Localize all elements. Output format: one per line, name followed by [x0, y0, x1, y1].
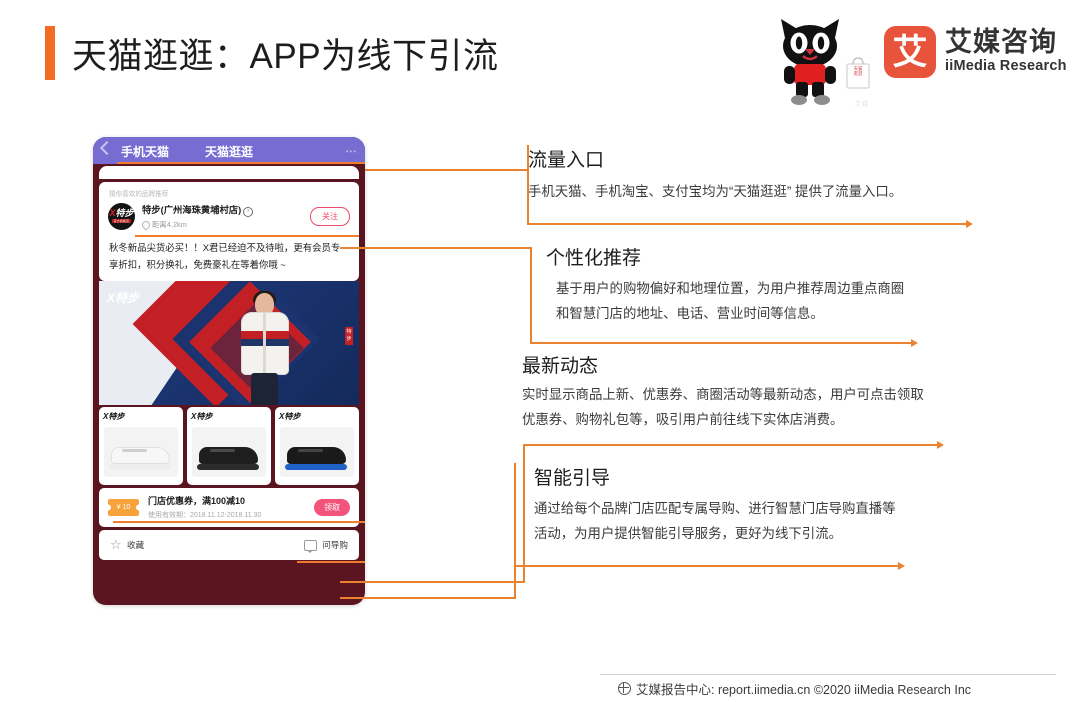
connector-arrow-1 — [966, 220, 973, 228]
annotation-3-heading: 最新动态 — [522, 351, 1022, 378]
brand-banner-image[interactable]: X特步 特步 — [99, 281, 359, 405]
store-card: 猜你喜欢的品牌推荐 X特步 官方旗舰店 特步(广州海珠黄埔村店)› 距离4.2k… — [99, 182, 359, 281]
nav-tab-tmall[interactable]: 手机天猫 — [121, 143, 169, 160]
connector-line-3-top — [340, 581, 524, 583]
iimedia-logo-name-en: iiMedia Research — [945, 57, 1067, 76]
footer-text: 艾媒报告中心: report.iimedia.cn ©2020 iiMedia … — [636, 679, 971, 698]
back-chevron-icon[interactable] — [100, 141, 114, 155]
product-image-black-sneaker — [192, 427, 266, 477]
store-underline-connector — [135, 235, 359, 237]
product-brand: X特步 — [103, 411, 179, 422]
page-title: 天猫逛逛：APP为线下引流 — [72, 28, 499, 79]
bottom-underline-connector — [297, 561, 365, 563]
favorite-label: 收藏 — [127, 539, 144, 551]
annotation-2-heading: 个性化推荐 — [546, 243, 1016, 270]
connector-arrow-4 — [898, 562, 905, 570]
coupon-amount-tag: ¥ 10 — [108, 499, 139, 516]
annotation-1-heading: 流量入口 — [528, 145, 998, 172]
watermark: 艾媒 — [855, 99, 869, 108]
banner-side-label: 特步 — [345, 327, 353, 345]
coupon-underline-connector — [113, 521, 365, 523]
nav-underline-connector — [117, 162, 365, 165]
connector-line-4-top — [340, 597, 515, 599]
banner-brand-logo: X特步 — [107, 289, 139, 306]
store-row[interactable]: X特步 官方旗舰店 特步(广州海珠黄埔村店)› 距离4.2km 关注 — [99, 202, 359, 235]
footer: 艾媒报告中心: report.iimedia.cn ©2020 iiMedia … — [618, 679, 971, 698]
store-promo-text: 秋冬新品尖货必买！！X君已经迫不及待啦，更有会员专享折扣，积分换礼，免费豪礼在等… — [99, 235, 359, 281]
bag-label: 天猫 逛逛 — [847, 66, 869, 77]
connector-bracket-2 — [530, 247, 532, 344]
connector-line-2-bottom — [530, 342, 912, 344]
store-logo: X特步 官方旗舰店 — [108, 203, 135, 230]
iimedia-logo-name-cn: 艾媒咨询 — [945, 28, 1067, 56]
coupon-validity: 使用有效期：2018.11.12-2018.11.30 — [148, 510, 314, 520]
store-detail-arrow-icon[interactable]: › — [243, 207, 253, 217]
app-nav-bar: 手机天猫 天猫逛逛 ••• — [93, 137, 365, 164]
follow-button[interactable]: 关注 — [310, 207, 350, 226]
title-bar: 天猫逛逛：APP为线下引流 天猫 逛逛 艾 艾媒咨询 iiMedia Resea… — [0, 0, 1080, 110]
store-logo-sub: 官方旗舰店 — [112, 219, 132, 223]
coupon-title: 门店优惠券，满100减10 — [148, 494, 314, 507]
connector-line-4-bottom — [514, 565, 899, 567]
product-grid: X特步 X特步 X特步 — [99, 407, 359, 485]
iimedia-logo: 艾 艾媒咨询 iiMedia Research — [884, 26, 1067, 78]
connector-line-2-top — [340, 247, 531, 249]
iimedia-logo-mark: 艾 — [884, 26, 936, 78]
connector-line-1-top — [365, 169, 528, 171]
annotation-1: 流量入口 手机天猫、手机淘宝、支付宝均为“天猫逛逛” 提供了流量入口。 — [528, 145, 998, 204]
recommendation-label: 猜你喜欢的品牌推荐 — [99, 182, 359, 202]
banner-model-figure — [233, 293, 297, 405]
annotation-4-heading: 智能引导 — [534, 463, 1024, 490]
phone-mockup: 手机天猫 天猫逛逛 ••• 猜你喜欢的品牌推荐 X特步 官方旗舰店 特步(广州海… — [93, 137, 365, 605]
connector-bracket-4 — [514, 463, 516, 599]
globe-icon — [618, 682, 631, 695]
ask-guide-action[interactable]: 问导购 — [304, 539, 348, 551]
connector-arrow-2 — [911, 339, 918, 347]
card-top-edge — [99, 166, 359, 179]
product-brand: X特步 — [279, 411, 355, 422]
chat-bubble-icon — [304, 540, 317, 551]
annotation-4-body: 通过给每个品牌门店匹配专属导购、进行智慧门店导购直播等 活动，为用户提供智能引导… — [534, 496, 1024, 546]
nav-tab-guangguang[interactable]: 天猫逛逛 — [205, 143, 253, 160]
product-card[interactable]: X特步 — [187, 407, 271, 485]
annotation-3: 最新动态 实时显示商品上新、优惠券、商圈活动等最新动态，用户可点击领取 优惠券、… — [522, 351, 1022, 432]
store-info: 特步(广州海珠黄埔村店)› 距离4.2km — [142, 202, 310, 230]
connector-line-3-bottom — [523, 444, 938, 446]
product-brand: X特步 — [191, 411, 267, 422]
coupon-row: ¥ 10 门店优惠券，满100减10 使用有效期：2018.11.12-2018… — [99, 488, 359, 527]
ask-guide-label: 问导购 — [322, 539, 348, 551]
connector-line-1-bottom — [527, 223, 967, 225]
store-distance: 距离4.2km — [142, 219, 310, 230]
connector-arrow-3 — [937, 441, 944, 449]
more-options-icon[interactable]: ••• — [346, 147, 357, 156]
app-bottom-bar: ☆ 收藏 问导购 — [99, 530, 359, 560]
product-card[interactable]: X特步 — [99, 407, 183, 485]
title-accent-bar — [45, 26, 55, 80]
coupon-claim-button[interactable]: 领取 — [314, 499, 350, 516]
location-pin-icon — [140, 219, 151, 230]
footer-divider — [600, 674, 1056, 675]
product-image-black-blue-sneaker — [280, 427, 354, 477]
connector-bracket-3 — [523, 445, 525, 583]
annotation-3-body: 实时显示商品上新、优惠券、商圈活动等最新动态，用户可点击领取 优惠券、购物礼包等… — [522, 382, 1022, 432]
annotation-4: 智能引导 通过给每个品牌门店匹配专属导购、进行智慧门店导购直播等 活动，为用户提… — [534, 463, 1024, 546]
annotation-2-body: 基于用户的购物偏好和地理位置，为用户推荐周边重点商圈 和智慧门店的地址、电话、营… — [556, 276, 1016, 326]
coupon-info: 门店优惠券，满100减10 使用有效期：2018.11.12-2018.11.3… — [148, 494, 314, 520]
product-image-white-sneaker — [104, 427, 178, 477]
favorite-action[interactable]: ☆ 收藏 — [110, 539, 144, 551]
tmall-cat-mascot-icon — [775, 16, 845, 108]
annotation-2: 个性化推荐 基于用户的购物偏好和地理位置，为用户推荐周边重点商圈 和智慧门店的地… — [546, 243, 1016, 326]
store-name: 特步(广州海珠黄埔村店)› — [142, 202, 310, 217]
star-icon: ☆ — [110, 539, 122, 551]
annotation-1-body: 手机天猫、手机淘宝、支付宝均为“天猫逛逛” 提供了流量入口。 — [528, 179, 998, 204]
product-card[interactable]: X特步 — [275, 407, 359, 485]
